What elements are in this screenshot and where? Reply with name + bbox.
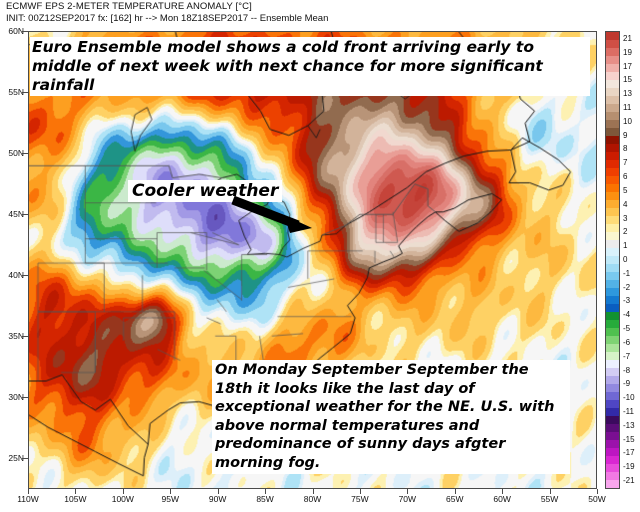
colorbar-swatch <box>606 80 619 88</box>
colorbar-tick-label: 4 <box>623 201 627 209</box>
colorbar <box>605 31 620 489</box>
colorbar-swatch <box>606 432 619 440</box>
colorbar-tick-label: -9 <box>623 380 630 388</box>
colorbar-swatch <box>606 360 619 368</box>
colorbar-swatch <box>606 400 619 408</box>
colorbar-swatch <box>606 88 619 96</box>
colorbar-swatch <box>606 256 619 264</box>
lon-tick-mark <box>407 489 408 494</box>
lat-tick-label: 55N <box>0 87 24 97</box>
lon-tick-label: 90W <box>201 494 235 504</box>
colorbar-tick-label: 8 <box>623 145 627 153</box>
colorbar-tick-label: 9 <box>623 132 627 140</box>
lat-tick-mark <box>22 31 28 32</box>
lon-tick-mark <box>170 489 171 494</box>
lat-tick-label: 45N <box>0 209 24 219</box>
colorbar-tick-label: -1 <box>623 270 630 278</box>
lon-tick-label: 95W <box>153 494 187 504</box>
colorbar-swatch <box>606 376 619 384</box>
lon-tick-label: 55W <box>533 494 567 504</box>
colorbar-swatch <box>606 208 619 216</box>
annotation-forecast-summary: Euro Ensemble model shows a cold front a… <box>30 37 590 96</box>
colorbar-swatch <box>606 240 619 248</box>
colorbar-swatch <box>606 272 619 280</box>
colorbar-swatch <box>606 72 619 80</box>
colorbar-tick-label: 2 <box>623 228 627 236</box>
lat-tick-label: 30N <box>0 392 24 402</box>
lon-tick-mark <box>313 489 314 494</box>
colorbar-swatch <box>606 416 619 424</box>
lon-tick-label: 75W <box>343 494 377 504</box>
colorbar-tick-label: 10 <box>623 118 632 126</box>
colorbar-swatch <box>606 216 619 224</box>
colorbar-swatch <box>606 192 619 200</box>
colorbar-swatch <box>606 288 619 296</box>
colorbar-tick-label: 21 <box>623 35 632 43</box>
cooler-weather-arrow-icon <box>228 193 314 235</box>
lon-tick-label: 85W <box>248 494 282 504</box>
colorbar-swatch <box>606 280 619 288</box>
lon-tick-label: 65W <box>438 494 472 504</box>
colorbar-swatch <box>606 32 619 40</box>
colorbar-swatch <box>606 456 619 464</box>
colorbar-tick-label: -21 <box>623 477 635 485</box>
colorbar-swatch <box>606 424 619 432</box>
lon-tick-mark <box>265 489 266 494</box>
colorbar-tick-label: -15 <box>623 436 635 444</box>
lat-tick-mark <box>22 275 28 276</box>
lat-tick-label: 50N <box>0 148 24 158</box>
header-init-line: INIT: 00Z12SEP2017 fx: [162] hr --> Mon … <box>6 13 328 25</box>
lat-tick-mark <box>22 92 28 93</box>
colorbar-swatch <box>606 96 619 104</box>
colorbar-swatch <box>606 336 619 344</box>
lat-tick-label: 60N <box>0 26 24 36</box>
colorbar-swatch <box>606 248 619 256</box>
lon-tick-label: 50W <box>580 494 614 504</box>
colorbar-swatch <box>606 384 619 392</box>
lat-tick-mark <box>22 214 28 215</box>
colorbar-swatch <box>606 408 619 416</box>
header-title: ECMWF EPS 2-METER TEMPERATURE ANOMALY [°… <box>6 1 328 13</box>
colorbar-swatch <box>606 472 619 480</box>
lon-tick-mark <box>28 489 29 494</box>
colorbar-tick-label: -17 <box>623 449 635 457</box>
colorbar-swatch <box>606 128 619 136</box>
colorbar-swatch <box>606 392 619 400</box>
lat-tick-mark <box>22 397 28 398</box>
lon-tick-mark <box>123 489 124 494</box>
weather-map-screenshot: ECMWF EPS 2-METER TEMPERATURE ANOMALY [°… <box>0 0 640 512</box>
lon-tick-mark <box>218 489 219 494</box>
colorbar-tick-label: -8 <box>623 367 630 375</box>
colorbar-tick-label: 19 <box>623 49 632 57</box>
colorbar-tick-label: -5 <box>623 325 630 333</box>
colorbar-tick-label: 17 <box>623 63 632 71</box>
map-header: ECMWF EPS 2-METER TEMPERATURE ANOMALY [°… <box>6 1 328 24</box>
colorbar-tick-label: -19 <box>623 463 635 471</box>
colorbar-swatch <box>606 160 619 168</box>
colorbar-tick-label: 11 <box>623 104 631 112</box>
lon-tick-mark <box>455 489 456 494</box>
colorbar-tick-label: 1 <box>623 242 627 250</box>
colorbar-swatch <box>606 448 619 456</box>
colorbar-tick-label: -3 <box>623 297 630 305</box>
lat-tick-mark <box>22 336 28 337</box>
colorbar-tick-label: 5 <box>623 187 627 195</box>
colorbar-tick-label: -11 <box>623 408 634 416</box>
lat-tick-label: 25N <box>0 453 24 463</box>
colorbar-tick-label: 15 <box>623 76 632 84</box>
colorbar-swatch <box>606 344 619 352</box>
colorbar-swatch <box>606 176 619 184</box>
lat-tick-mark <box>22 153 28 154</box>
lat-tick-label: 35N <box>0 331 24 341</box>
lat-tick-mark <box>22 458 28 459</box>
colorbar-tick-label: -10 <box>623 394 635 402</box>
lon-tick-mark <box>360 489 361 494</box>
colorbar-swatch <box>606 480 619 488</box>
colorbar-swatch <box>606 224 619 232</box>
colorbar-swatch <box>606 136 619 144</box>
colorbar-swatch <box>606 200 619 208</box>
colorbar-tick-label: 0 <box>623 256 627 264</box>
lon-tick-label: 60W <box>485 494 519 504</box>
lon-tick-label: 100W <box>106 494 140 504</box>
colorbar-swatch <box>606 64 619 72</box>
colorbar-swatch <box>606 296 619 304</box>
colorbar-tick-label: -6 <box>623 339 630 347</box>
colorbar-swatch <box>606 40 619 48</box>
colorbar-tick-label: -4 <box>623 311 630 319</box>
colorbar-swatch <box>606 232 619 240</box>
colorbar-swatch <box>606 168 619 176</box>
colorbar-swatch <box>606 304 619 312</box>
colorbar-swatch <box>606 152 619 160</box>
lon-tick-label: 80W <box>296 494 330 504</box>
lon-tick-label: 105W <box>58 494 92 504</box>
lat-tick-label: 40N <box>0 270 24 280</box>
colorbar-swatch <box>606 464 619 472</box>
colorbar-swatch <box>606 352 619 360</box>
colorbar-swatch <box>606 120 619 128</box>
lon-tick-label: 70W <box>390 494 424 504</box>
colorbar-swatch <box>606 48 619 56</box>
lon-tick-mark <box>550 489 551 494</box>
colorbar-tick-label: 6 <box>623 173 627 181</box>
colorbar-tick-label: -2 <box>623 284 630 292</box>
colorbar-swatch <box>606 368 619 376</box>
colorbar-tick-label: -13 <box>623 422 635 430</box>
lon-tick-mark <box>597 489 598 494</box>
colorbar-swatch <box>606 264 619 272</box>
colorbar-swatch <box>606 328 619 336</box>
colorbar-tick-label: 7 <box>623 159 627 167</box>
colorbar-swatch <box>606 184 619 192</box>
annotation-monday-outlook: On Monday September September the 18th i… <box>212 360 570 474</box>
colorbar-swatch <box>606 320 619 328</box>
lon-tick-label: 110W <box>11 494 45 504</box>
lon-tick-mark <box>75 489 76 494</box>
colorbar-tick-label: 3 <box>623 215 627 223</box>
colorbar-swatch <box>606 112 619 120</box>
lon-tick-mark <box>502 489 503 494</box>
colorbar-tick-label: -7 <box>623 353 630 361</box>
colorbar-swatch <box>606 440 619 448</box>
colorbar-swatch <box>606 56 619 64</box>
colorbar-swatch <box>606 144 619 152</box>
colorbar-tick-label: 13 <box>623 90 632 98</box>
colorbar-swatch <box>606 104 619 112</box>
colorbar-swatch <box>606 312 619 320</box>
